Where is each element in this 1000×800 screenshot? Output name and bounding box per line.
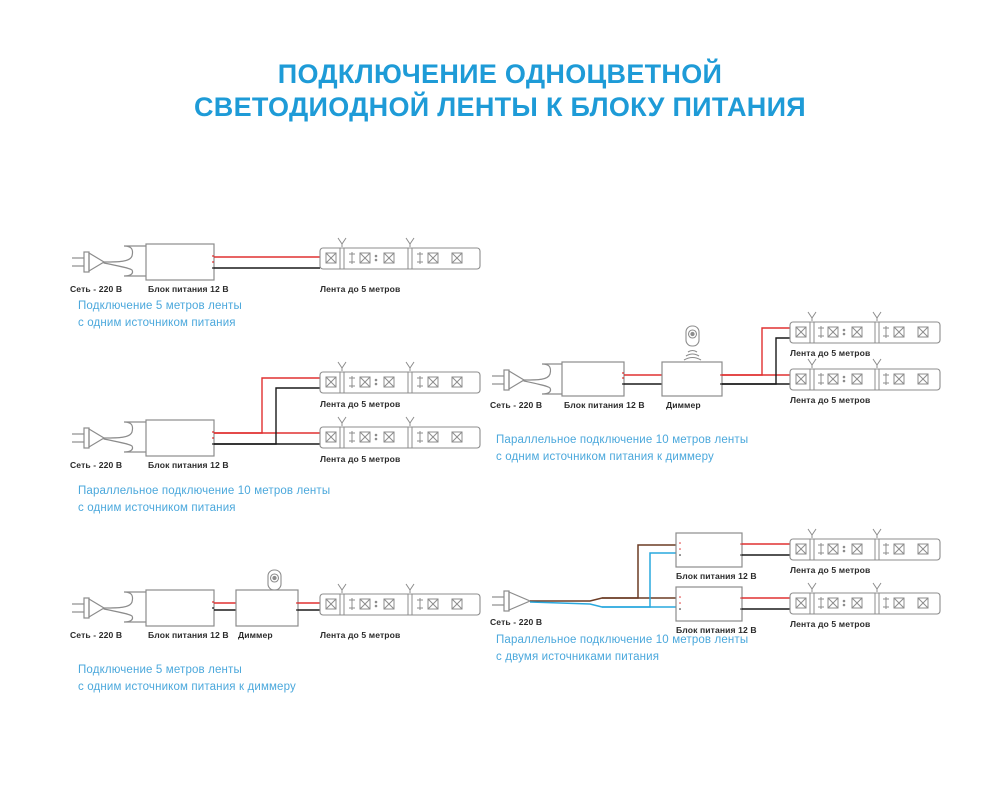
power-supply-icon bbox=[676, 587, 742, 621]
scissors-cut-mark-icon bbox=[338, 238, 414, 247]
label-mains: Сеть - 220 В bbox=[70, 460, 122, 470]
label-mains: Сеть - 220 В bbox=[490, 400, 542, 410]
wire-positive bbox=[214, 378, 320, 433]
caption-diagram-5: Параллельное подключение 10 метров ленты… bbox=[496, 632, 866, 666]
label-led-strip-top: Лента до 5 метров bbox=[320, 399, 400, 409]
scissors-cut-mark-icon bbox=[808, 529, 881, 538]
label-mains: Сеть - 220 В bbox=[490, 617, 542, 627]
label-led-strip-top: Лента до 5 метров bbox=[790, 348, 870, 358]
led-strip-icon bbox=[790, 583, 940, 614]
caption-diagram-1: Подключение 5 метров ленты с одним источ… bbox=[78, 298, 418, 332]
label-dimmer: Диммер bbox=[666, 400, 701, 410]
led-strip-icon bbox=[790, 312, 940, 343]
dimmer-icon bbox=[236, 590, 298, 626]
power-supply-icon bbox=[146, 420, 214, 456]
led-strip-icon bbox=[790, 529, 940, 560]
scissors-cut-mark-icon bbox=[808, 312, 881, 321]
wire-negative bbox=[722, 338, 790, 384]
scissors-cut-mark-icon bbox=[808, 359, 881, 368]
label-led-strip: Лента до 5 метров bbox=[320, 630, 400, 640]
power-supply-icon bbox=[562, 362, 624, 396]
label-dimmer: Диммер bbox=[238, 630, 273, 640]
page-title: ПОДКЛЮЧЕНИЕ ОДНОЦВЕТНОЙ СВЕТОДИОДНОЙ ЛЕН… bbox=[0, 58, 1000, 124]
scissors-cut-mark-icon bbox=[338, 417, 414, 426]
label-power-supply: Блок питания 12 В bbox=[148, 630, 229, 640]
power-supply-icon bbox=[146, 244, 214, 280]
scissors-cut-mark-icon bbox=[808, 583, 881, 592]
label-power-supply: Блок питания 12 В bbox=[148, 460, 229, 470]
label-power-supply: Блок питания 12 В bbox=[148, 284, 229, 294]
led-strip-icon bbox=[320, 238, 480, 269]
scissors-cut-mark-icon bbox=[338, 362, 414, 371]
led-strip-icon bbox=[790, 359, 940, 390]
wire-positive bbox=[722, 328, 790, 375]
dimmer-icon bbox=[662, 362, 722, 396]
wire-negative bbox=[214, 388, 320, 444]
diagram-2: Сеть - 220 В Блок питания 12 В Лента до … bbox=[70, 366, 490, 471]
diagram-5: Сеть - 220 В Блок питания 12 В Блок пита… bbox=[490, 525, 940, 635]
label-mains: Сеть - 220 В bbox=[70, 630, 122, 640]
label-mains: Сеть - 220 В bbox=[70, 284, 122, 294]
caption-diagram-3: Подключение 5 метров ленты с одним источ… bbox=[78, 662, 438, 696]
mains-plug-icon bbox=[492, 364, 562, 394]
remote-control-icon bbox=[684, 326, 701, 360]
led-strip-icon bbox=[320, 584, 480, 615]
label-power-supply-top: Блок питания 12 В bbox=[676, 571, 757, 581]
mains-plug-icon bbox=[72, 422, 146, 452]
label-power-supply: Блок питания 12 В bbox=[564, 400, 645, 410]
diagram-1: Сеть - 220 В Блок питания 12 В Лента до … bbox=[70, 236, 490, 296]
mains-plug-icon bbox=[72, 592, 146, 622]
diagram-3: Сеть - 220 В Блок питания 12 В Диммер Ле… bbox=[70, 570, 490, 640]
label-led-strip-bottom: Лента до 5 метров bbox=[790, 619, 870, 629]
label-led-strip-top: Лента до 5 метров bbox=[790, 565, 870, 575]
caption-diagram-2: Параллельное подключение 10 метров ленты… bbox=[78, 483, 438, 517]
page-title-line1: ПОДКЛЮЧЕНИЕ ОДНОЦВЕТНОЙ bbox=[0, 58, 1000, 91]
led-strip-icon bbox=[320, 362, 480, 393]
power-supply-icon bbox=[146, 590, 214, 626]
page-title-line2: СВЕТОДИОДНОЙ ЛЕНТЫ К БЛОКУ ПИТАНИЯ bbox=[0, 91, 1000, 124]
power-supply-icon bbox=[676, 533, 742, 567]
scissors-cut-mark-icon bbox=[338, 584, 414, 593]
label-led-strip-bottom: Лента до 5 метров bbox=[790, 395, 870, 405]
led-strip-icon bbox=[320, 417, 480, 448]
label-led-strip: Лента до 5 метров bbox=[320, 284, 400, 294]
diagram-4: Сеть - 220 В Блок питания 12 В Диммер Ле… bbox=[490, 312, 940, 412]
mains-plug-icon bbox=[492, 591, 530, 611]
caption-diagram-4: Параллельное подключение 10 метров ленты… bbox=[496, 432, 866, 466]
mains-plug-icon bbox=[72, 246, 146, 276]
wire-blue bbox=[530, 553, 676, 607]
label-led-strip-bottom: Лента до 5 метров bbox=[320, 454, 400, 464]
